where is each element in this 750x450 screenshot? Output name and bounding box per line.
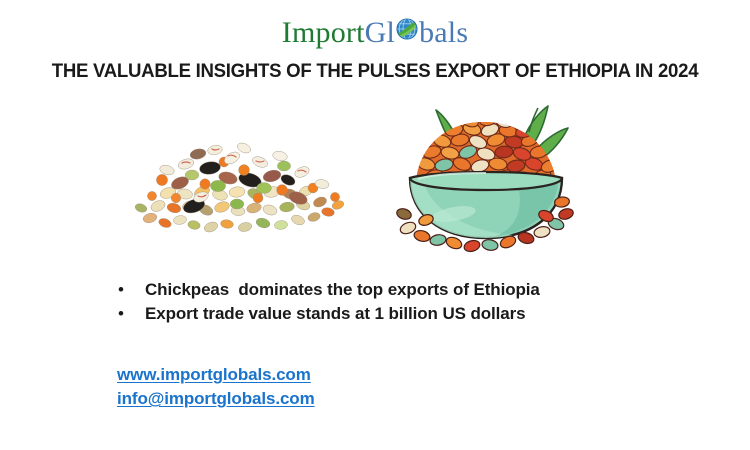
list-item-label: Export trade value stands at 1 billion U… — [145, 304, 526, 324]
bowl-of-beans-image — [396, 102, 576, 254]
globe-icon — [394, 16, 420, 42]
list-item: • Export trade value stands at 1 billion… — [112, 304, 712, 328]
contact-links: www.importglobals.com info@importglobals… — [117, 363, 315, 411]
page-title: THE VALUABLE INSIGHTS OF THE PULSES EXPO… — [17, 60, 733, 83]
mixed-pulses-pile-image — [132, 128, 348, 234]
logo-text-bals: bals — [419, 16, 468, 49]
bullet-marker-icon: • — [112, 305, 145, 322]
list-item: • Chickpeas dominates the top exports of… — [112, 280, 712, 304]
insights-bullet-list: • Chickpeas dominates the top exports of… — [112, 280, 712, 328]
brand-logo[interactable]: ImportGl bals — [0, 16, 750, 48]
bullet-marker-icon: • — [112, 281, 145, 298]
website-link[interactable]: www.importglobals.com — [117, 363, 315, 387]
logo-text-import: Import — [282, 16, 365, 49]
poster-canvas: ImportGl bals THE VALUABL — [0, 0, 750, 450]
email-link[interactable]: info@importglobals.com — [117, 387, 315, 411]
list-item-label: Chickpeas dominates the top exports of E… — [145, 280, 540, 300]
artwork-row — [0, 100, 750, 260]
logo-text-gl: Gl — [365, 16, 395, 49]
